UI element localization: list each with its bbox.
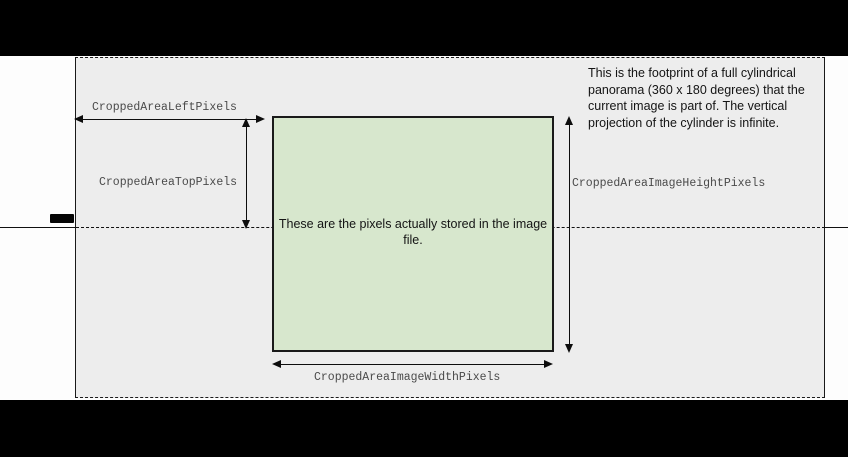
label-cropped-area-image-height-pixels: CroppedAreaImageHeightPixels xyxy=(572,177,765,190)
image-height-dimension-line xyxy=(569,124,570,346)
label-cropped-area-top-pixels: CroppedAreaTopPixels xyxy=(99,176,237,189)
left-pixels-arrow-end-icon xyxy=(256,115,265,123)
stored-pixels-caption: These are the pixels actually stored in … xyxy=(272,216,554,248)
letterbox-bar-bottom xyxy=(0,400,848,457)
panorama-footprint-note: This is the footprint of a full cylindri… xyxy=(588,65,838,131)
horizon-marker-block xyxy=(50,214,74,223)
top-pixels-arrow-end-icon xyxy=(242,220,250,229)
image-height-arrow-start-icon xyxy=(565,116,573,125)
image-width-dimension-line xyxy=(280,364,546,365)
top-pixels-arrow-start-icon xyxy=(242,118,250,127)
horizon-line-right-segment xyxy=(825,227,848,228)
letterbox-bar-top xyxy=(0,0,848,56)
image-width-arrow-end-icon xyxy=(544,360,553,368)
left-pixels-arrow-start-icon xyxy=(74,115,83,123)
top-pixels-dimension-line xyxy=(246,126,247,222)
label-cropped-area-image-width-pixels: CroppedAreaImageWidthPixels xyxy=(314,371,500,384)
left-pixels-dimension-line xyxy=(82,119,258,120)
label-cropped-area-left-pixels: CroppedAreaLeftPixels xyxy=(92,101,237,114)
image-height-arrow-end-icon xyxy=(565,344,573,353)
image-width-arrow-start-icon xyxy=(272,360,281,368)
diagram-canvas: These are the pixels actually stored in … xyxy=(0,0,848,457)
horizon-line-left-segment xyxy=(0,227,76,228)
